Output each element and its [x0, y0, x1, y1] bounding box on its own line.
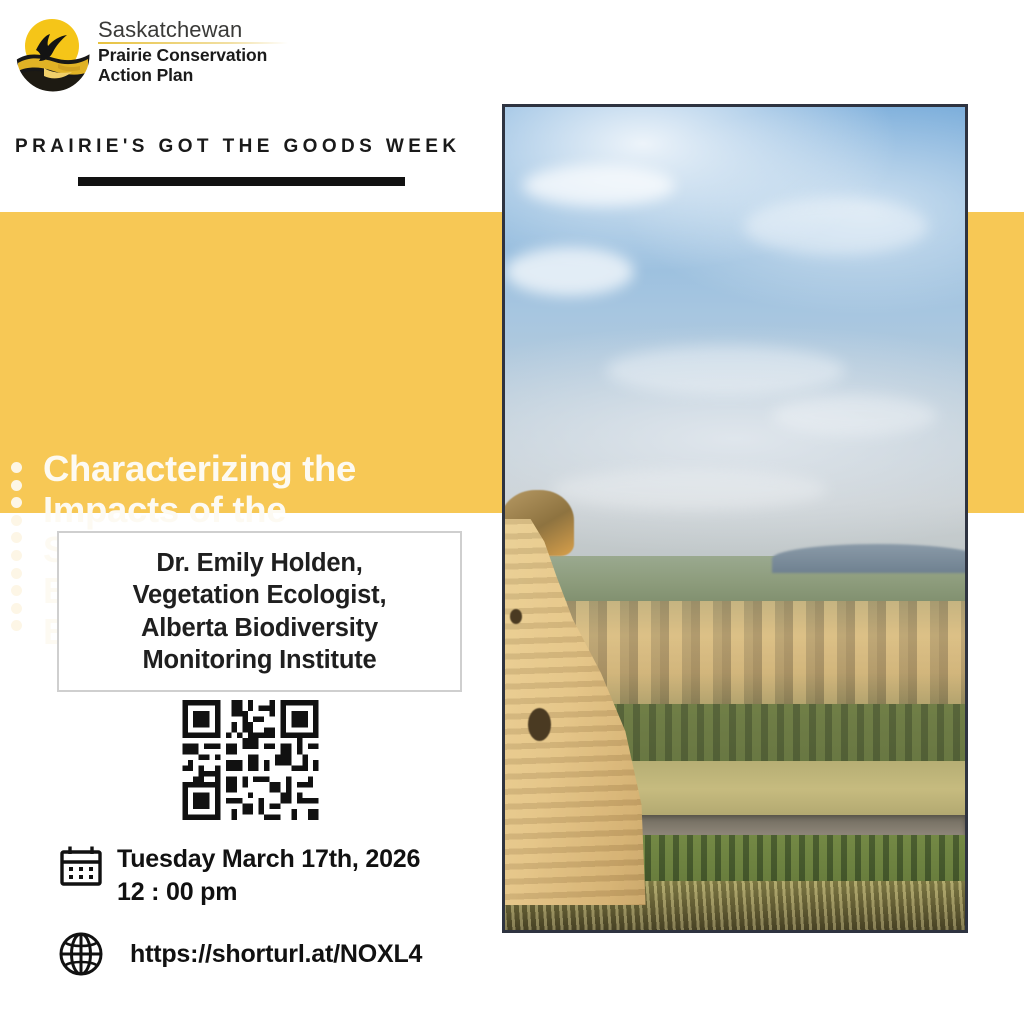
globe-icon — [57, 930, 105, 978]
title-line: Characterizing the — [43, 449, 473, 490]
prairie-sun-bird-logo-icon — [14, 16, 92, 94]
logo-line-pcap-b: Action Plan — [98, 66, 318, 86]
logo-line-pcap: Prairie Conservation Action Plan — [98, 46, 318, 85]
event-series-eyebrow: PRAIRIE'S GOT THE GOODS WEEK — [15, 136, 485, 158]
speaker-org-line-2: Monitoring Institute — [133, 644, 387, 676]
dot — [11, 550, 22, 561]
event-date: Tuesday March 17th, 2026 — [117, 843, 420, 876]
dot — [11, 497, 22, 508]
title-line: Impacts of the — [43, 490, 473, 531]
speaker-info-box: Dr. Emily Holden, Vegetation Ecologist, … — [57, 531, 462, 692]
dot — [11, 568, 22, 579]
event-link-row[interactable]: https://shorturl.at/NOXL4 — [57, 930, 422, 978]
organization-logo: Saskatchewan Prairie Conservation Action… — [14, 16, 314, 100]
dot — [11, 515, 22, 526]
dot — [11, 620, 22, 631]
header-rule-bar — [78, 177, 405, 186]
speaker-details: Dr. Emily Holden, Vegetation Ecologist, … — [133, 547, 387, 676]
event-datetime-text: Tuesday March 17th, 2026 12 : 00 pm — [117, 843, 420, 908]
speaker-name: Dr. Emily Holden, — [133, 547, 387, 579]
event-time: 12 : 00 pm — [117, 876, 420, 909]
landscape-photo — [502, 104, 968, 933]
event-datetime: Tuesday March 17th, 2026 12 : 00 pm — [57, 843, 420, 908]
logo-line-pcap-a: Prairie Conservation — [98, 46, 318, 66]
dot — [11, 603, 22, 614]
qr-code[interactable] — [182, 700, 319, 820]
cloud — [772, 395, 938, 436]
logo-wordmark: Saskatchewan Prairie Conservation Action… — [98, 18, 318, 85]
logo-underline — [98, 42, 288, 44]
poster-canvas: Saskatchewan Prairie Conservation Action… — [0, 0, 1024, 1024]
cloud — [744, 198, 928, 256]
cloud — [505, 247, 634, 296]
dot — [11, 480, 22, 491]
dot — [11, 462, 22, 473]
cloud — [523, 165, 675, 206]
logo-line-saskatchewan: Saskatchewan — [98, 18, 318, 41]
speaker-org-line-1: Alberta Biodiversity — [133, 612, 387, 644]
calendar-icon — [57, 843, 105, 891]
dot-column-decoration — [11, 462, 23, 630]
speaker-role: Vegetation Ecologist, — [133, 579, 387, 611]
dot — [11, 532, 22, 543]
photo-cliff-cavity — [510, 609, 522, 624]
photo-cliff-cavity — [528, 708, 551, 741]
dot — [11, 585, 22, 596]
cloud — [551, 469, 827, 510]
cloud — [606, 346, 845, 395]
registration-url[interactable]: https://shorturl.at/NOXL4 — [117, 940, 422, 969]
